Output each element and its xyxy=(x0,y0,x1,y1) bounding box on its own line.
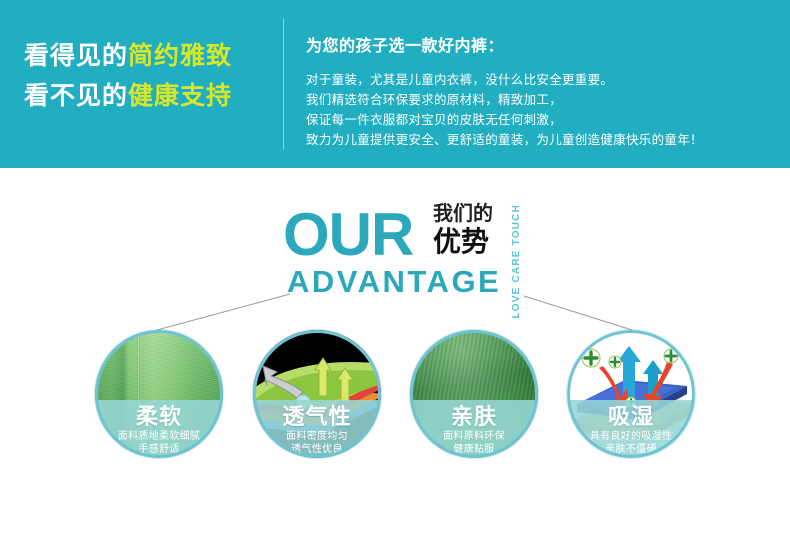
circle-ring-1 xyxy=(95,330,223,458)
advantage-title-advantage: ADVANTAGE xyxy=(287,264,501,300)
header-copy-title: 为您的孩子选一款好内裤： xyxy=(306,32,776,56)
slogan-line-2-plain: 看不见的 xyxy=(24,82,128,110)
advantage-section: OUR 我们的 优势 ADVANTAGE LOVE CARE TOUCH 柔软 … xyxy=(0,168,790,548)
header-vertical-divider xyxy=(283,18,284,150)
advantage-title-group: OUR 我们的 优势 ADVANTAGE LOVE CARE TOUCH xyxy=(283,202,543,322)
header-copy-line-4: 致力为儿童提供更安全、更舒适的童装，为儿童创造健康快乐的童年！ xyxy=(306,130,776,150)
header-copy-line-1: 对于童装，尤其是儿童内衣裤，没什么比安全更重要。 xyxy=(306,70,776,90)
header-copy-block: 为您的孩子选一款好内裤： 对于童装，尤其是儿童内衣裤，没什么比安全更重要。 我们… xyxy=(306,32,776,150)
header-copy-line-2: 我们精选符合环保要求的原材料，精致加工， xyxy=(306,90,776,110)
slogan-line-1-plain: 看得见的 xyxy=(24,42,128,70)
header-slogan-block: 看得见的简约雅致 看不见的健康支持 xyxy=(24,40,274,120)
circle-ring-3 xyxy=(410,330,538,458)
advantage-vertical-tagline: LOVE CARE TOUCH xyxy=(511,204,522,319)
advantage-title-cn-top: 我们的 xyxy=(433,202,513,226)
header-copy-body: 对于童装，尤其是儿童内衣裤，没什么比安全更重要。 我们精选符合环保要求的原材料，… xyxy=(306,70,776,150)
circle-ring-2 xyxy=(253,330,381,458)
header-copy-line-3: 保证每一件衣服都对宝贝的皮肤无任何刺激， xyxy=(306,110,776,130)
circle-ring-4 xyxy=(567,330,695,458)
feature-circle-skin-friendly[interactable]: 亲肤 面料原料环保 健康贴服 xyxy=(410,330,538,458)
slogan-line-1: 看得见的简约雅致 xyxy=(24,40,274,72)
feature-circle-breathability[interactable]: 透气性 面料密度均匀 透气性优良 xyxy=(253,330,381,458)
slogan-line-2: 看不见的健康支持 xyxy=(24,80,274,112)
slogan-line-1-accent: 简约雅致 xyxy=(128,42,232,70)
promo-header-banner: 看得见的简约雅致 看不见的健康支持 为您的孩子选一款好内裤： 对于童装，尤其是儿… xyxy=(0,0,790,168)
feature-circle-softness[interactable]: 柔软 面料质地柔软细腻 手感舒适 xyxy=(95,330,223,458)
slogan-line-2-accent: 健康支持 xyxy=(128,82,232,110)
advantage-title-chinese: 我们的 优势 xyxy=(433,202,513,258)
advantage-title-cn-bottom: 优势 xyxy=(433,226,513,258)
advantage-title-our: OUR xyxy=(283,206,413,264)
feature-circle-moisture-absorption[interactable]: 吸湿 具有良好的吸湿性 亲肤不僵硬 xyxy=(567,330,695,458)
